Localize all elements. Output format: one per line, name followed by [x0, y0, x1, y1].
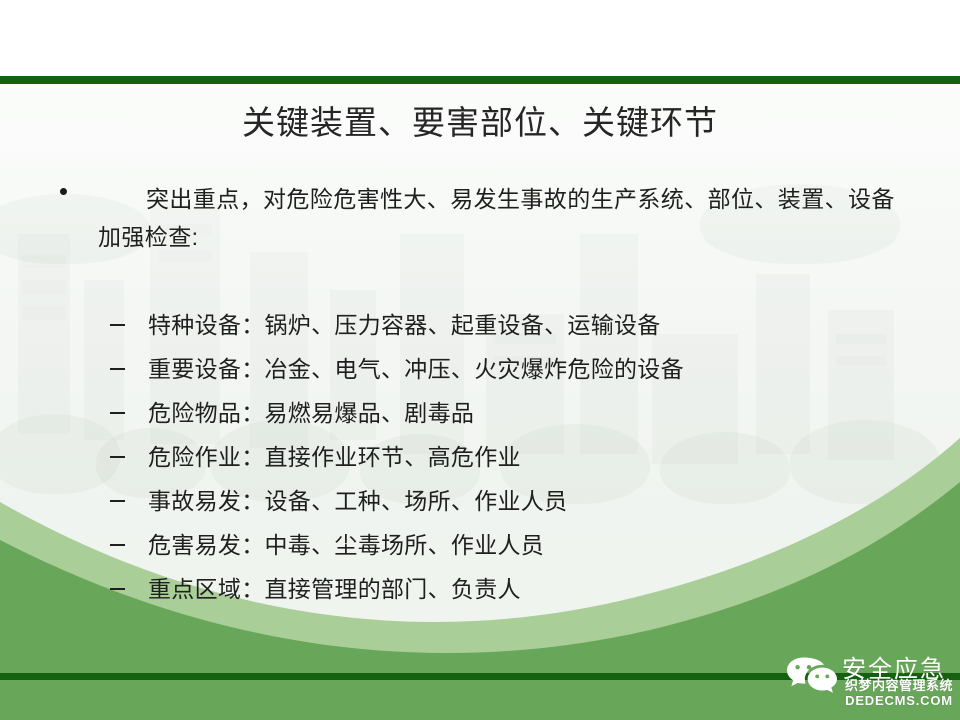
- list-item-label: 危害易发：中毒、尘毒场所、作业人员: [148, 523, 544, 567]
- list-item-label: 特种设备：锅炉、压力容器、起重设备、运输设备: [148, 303, 661, 347]
- watermark: 织梦内容管理系统 DEDECMS.COM: [838, 679, 960, 708]
- wechat-icon: [786, 655, 838, 695]
- dash-bullet-icon: [110, 544, 125, 546]
- list-item-label: 重点区域：直接管理的部门、负责人: [148, 567, 521, 611]
- bulleted-list: 特种设备：锅炉、压力容器、起重设备、运输设备 重要设备：冶金、电气、冲压、火灾爆…: [110, 303, 930, 611]
- list-item: 危险物品：易燃易爆品、剧毒品: [110, 391, 930, 435]
- logo-watermark-group: 安全应急 织梦内容管理系统 DEDECMS.COM: [786, 653, 960, 703]
- list-item: 危险作业：直接作业环节、高危作业: [110, 435, 930, 479]
- dash-bullet-icon: [110, 324, 125, 326]
- presentation-slide: 关键装置、要害部位、关键环节 突出重点，对危险危害性大、易发生事故的生产系统、部…: [0, 0, 960, 720]
- bullet-dot-icon: [60, 188, 67, 195]
- list-item-label: 重要设备：冶金、电气、冲压、火灾爆炸危险的设备: [148, 347, 684, 391]
- list-item: 重点区域：直接管理的部门、负责人: [110, 567, 930, 611]
- dash-bullet-icon: [110, 588, 125, 590]
- list-item: 危害易发：中毒、尘毒场所、作业人员: [110, 523, 930, 567]
- page-title: 关键装置、要害部位、关键环节: [0, 101, 960, 145]
- top-divider-rule: [0, 76, 960, 84]
- dash-bullet-icon: [110, 500, 125, 502]
- list-item-label: 事故易发：设备、工种、场所、作业人员: [148, 479, 567, 523]
- list-item-label: 危险物品：易燃易爆品、剧毒品: [148, 391, 474, 435]
- list-item: 特种设备：锅炉、压力容器、起重设备、运输设备: [110, 303, 930, 347]
- watermark-cn-text: 织梦内容管理系统: [838, 679, 960, 693]
- dash-bullet-icon: [110, 456, 125, 458]
- list-item: 重要设备：冶金、电气、冲压、火灾爆炸危险的设备: [110, 347, 930, 391]
- list-item-label: 危险作业：直接作业环节、高危作业: [148, 435, 521, 479]
- intro-paragraph-text: 突出重点，对危险危害性大、易发生事故的生产系统、部位、装置、设备加强检查:: [98, 180, 912, 256]
- dash-bullet-icon: [110, 368, 125, 370]
- dash-bullet-icon: [110, 412, 125, 414]
- list-item: 事故易发：设备、工种、场所、作业人员: [110, 479, 930, 523]
- intro-paragraph: 突出重点，对危险危害性大、易发生事故的生产系统、部位、装置、设备加强检查:: [56, 180, 912, 256]
- watermark-en-text: DEDECMS.COM: [838, 693, 960, 708]
